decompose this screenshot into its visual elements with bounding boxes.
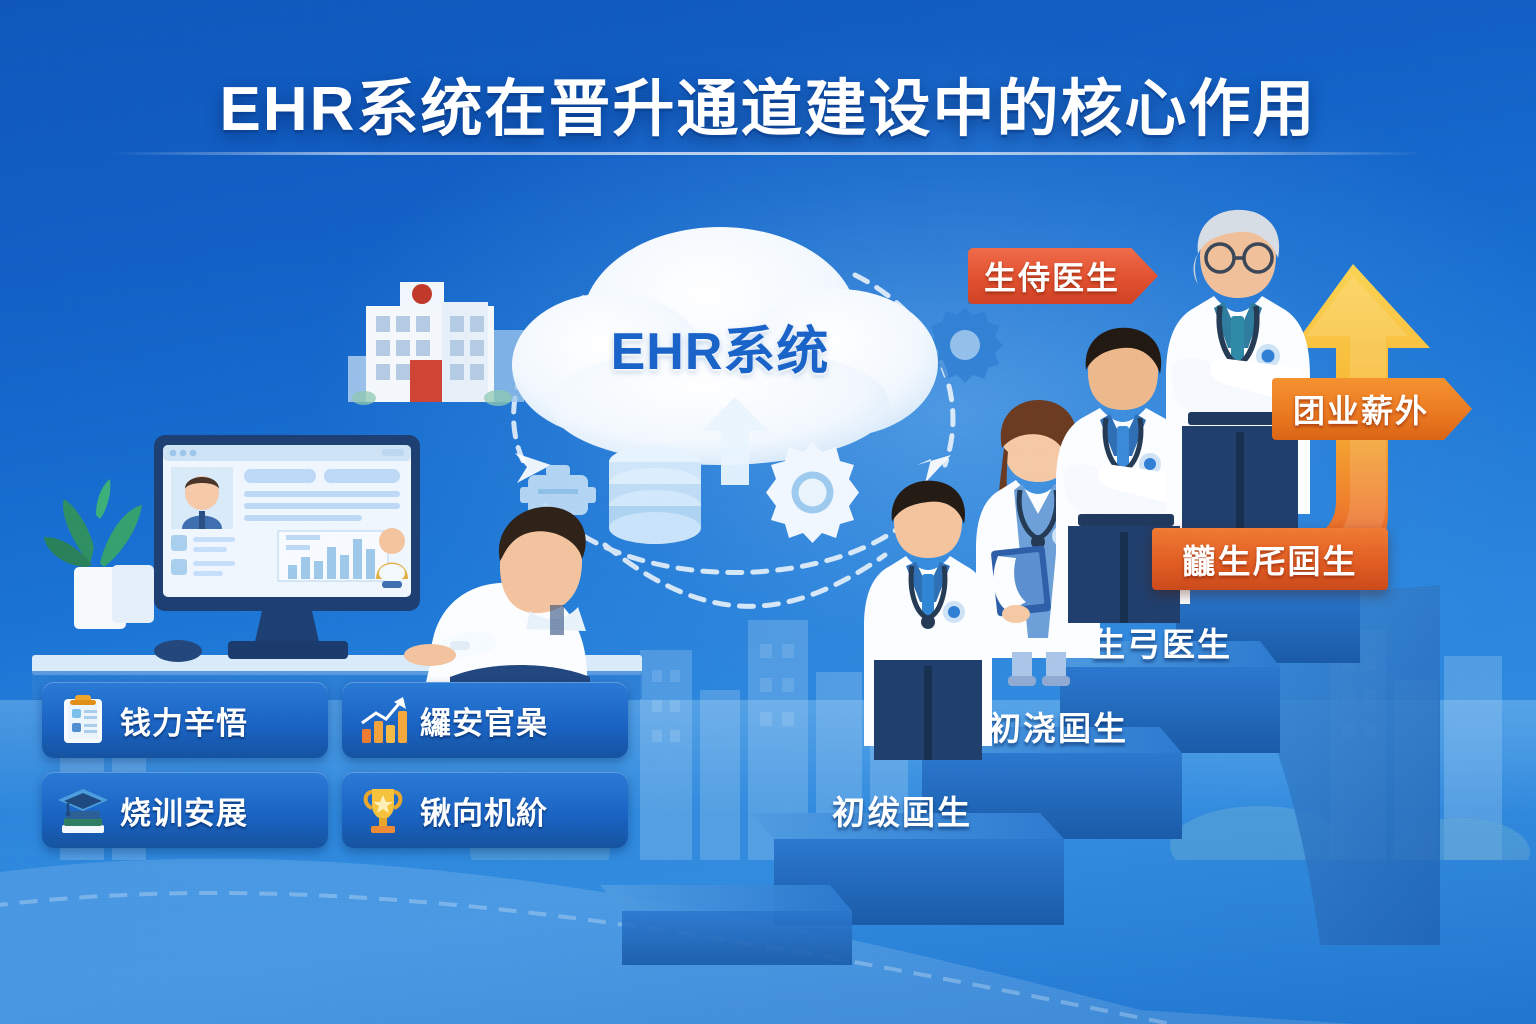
- trophy-icon: [356, 783, 410, 837]
- status-badge-red[interactable]: 生侍医生: [968, 248, 1158, 304]
- feature-card-capability-assessment[interactable]: 钱力辛悟: [42, 682, 328, 758]
- employee-profile-avatar: [171, 467, 233, 529]
- ladder-step-label-1: 初绂囸生: [832, 786, 972, 834]
- gear-icon: [760, 440, 865, 545]
- cloud-label: EHR系统: [470, 309, 970, 384]
- feature-card-incentive[interactable]: 锹向机紒: [342, 772, 628, 848]
- feature-card-label: 钱力辛悟: [120, 698, 248, 743]
- doctor-at-computer-icon: [30, 415, 650, 705]
- feature-card-label: 锹向机紒: [420, 788, 548, 833]
- feature-card-label: 纙安官喿: [420, 698, 548, 743]
- infographic-canvas: EHR系统在晋升通道建设中的核心作用: [0, 0, 1536, 1024]
- keyboard-icon: [228, 641, 348, 659]
- ladder-step-label-2: 初浇囸生: [988, 702, 1128, 750]
- feature-card-label: 烧训安展: [120, 788, 248, 833]
- feature-card-training[interactable]: 烧训安展: [42, 772, 328, 848]
- chief-elder-doctor: [1158, 196, 1318, 556]
- graduation-cap-books-icon: [56, 783, 110, 837]
- bar-chart-growth-icon: [356, 693, 410, 747]
- potted-plant-icon: [44, 479, 154, 629]
- mouse-icon: [154, 640, 202, 662]
- page-title-text: EHR系统在晋升通道建设中的核心作用: [220, 58, 1317, 148]
- clipboard-checklist-icon: [56, 693, 110, 747]
- seated-user: [404, 507, 590, 705]
- bar-chart-panel: [278, 531, 388, 581]
- status-badge-orange-ribbon[interactable]: 团业薪外: [1272, 378, 1472, 440]
- title-divider: [110, 152, 1426, 155]
- ladder-step-label-3: 生弓医生: [1092, 618, 1232, 666]
- feature-card-performance[interactable]: 纙安官喿: [342, 682, 628, 758]
- page-title: EHR系统在晋升通道建设中的核心作用: [0, 58, 1536, 148]
- feature-card-grid: 钱力辛悟 纙安官喿: [42, 682, 642, 848]
- status-badge-orange-step[interactable]: 龖生厇囸生: [1152, 528, 1388, 590]
